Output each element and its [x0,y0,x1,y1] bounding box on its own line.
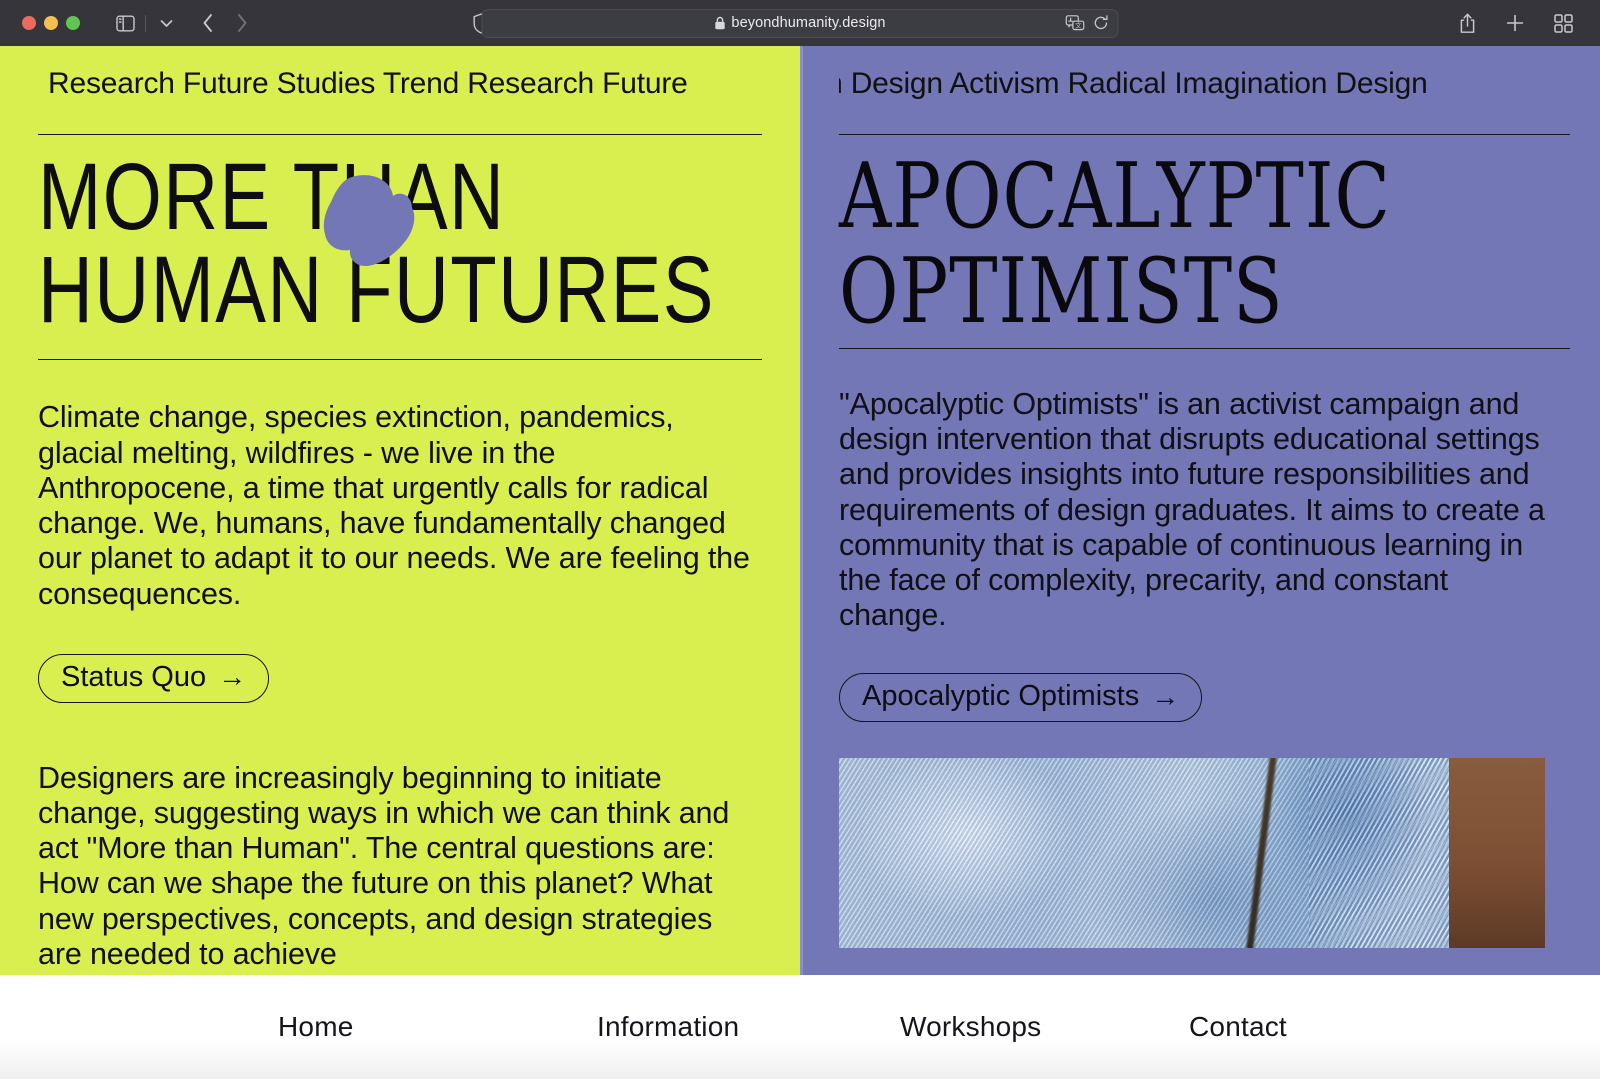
toolbar-right-actions [1450,8,1586,38]
photo-background-skin [1449,758,1545,948]
nav-item-information[interactable]: Information [519,1011,838,1043]
nav-item-home[interactable]: Home [170,1011,519,1043]
left-paragraph-1: Climate change, species extinction, pand… [38,400,750,611]
zoom-window-button[interactable] [66,16,80,30]
denim-jeans-photo [839,758,1545,948]
left-marquee-text: Research Future Studies Trend Research F… [48,67,688,101]
right-marquee-text: tion Design Activism Radical Imagination… [839,67,1428,101]
right-paragraph-1: "Apocalyptic Optimists" is an activist c… [839,387,1559,634]
close-window-button[interactable] [22,16,36,30]
left-marquee: Research Future Studies Trend Research F… [38,46,762,108]
toolbar-divider [145,15,146,32]
arrow-right-icon: → [1151,683,1179,711]
apocalyptic-optimists-button[interactable]: Apocalyptic Optimists → [839,673,1202,722]
right-rule-bottom [839,348,1570,349]
left-button-wrap: Status Quo → [38,654,762,703]
right-panel: tion Design Activism Radical Imagination… [800,46,1600,975]
sidebar-icon[interactable] [108,8,142,38]
forward-arrow-icon[interactable] [225,8,259,38]
status-quo-button[interactable]: Status Quo → [38,654,269,703]
bottom-navigation: Home Information Workshops Contact [0,975,1600,1079]
chevron-down-icon[interactable] [149,8,183,38]
left-heading: MORE THAN HUMAN FUTURES [38,151,762,338]
left-paragraph-2: Designers are increasingly beginning to … [38,761,750,972]
left-panel: Research Future Studies Trend Research F… [0,46,800,975]
back-arrow-icon[interactable] [191,8,225,38]
browser-toolbar: beyondhumanity.design 文 [0,0,1600,46]
share-icon[interactable] [1450,8,1484,38]
tab-grid-icon[interactable] [1546,8,1580,38]
web-page-viewport: Research Future Studies Trend Research F… [0,46,1600,975]
url-text: beyondhumanity.design [731,15,885,31]
right-button-wrap: Apocalyptic Optimists → [839,673,1570,722]
minimize-window-button[interactable] [44,16,58,30]
right-rule-top [839,134,1570,135]
translate-icon[interactable]: 文 [1066,15,1085,31]
nav-item-workshops[interactable]: Workshops [838,1011,1141,1043]
left-rule-top [38,134,762,135]
browser-window: beyondhumanity.design 文 [0,0,1600,1079]
svg-text:文: 文 [1075,21,1082,30]
right-heading: APOCALYPTIC OPTIMISTS [839,149,1555,340]
arrow-right-icon: → [218,663,246,691]
address-bar[interactable]: beyondhumanity.design 文 [482,9,1119,38]
right-marquee: tion Design Activism Radical Imagination… [839,46,1570,108]
left-rule-bottom [38,359,762,360]
navigation-arrows [191,8,259,38]
status-quo-button-label: Status Quo [61,663,206,692]
plus-icon[interactable] [1498,8,1532,38]
apocalyptic-optimists-button-label: Apocalyptic Optimists [862,682,1139,711]
reload-icon[interactable] [1094,15,1109,31]
lock-icon [714,16,725,30]
denim-pocket [1309,758,1469,948]
nav-item-contact[interactable]: Contact [1141,1011,1430,1043]
window-controls [22,16,80,30]
